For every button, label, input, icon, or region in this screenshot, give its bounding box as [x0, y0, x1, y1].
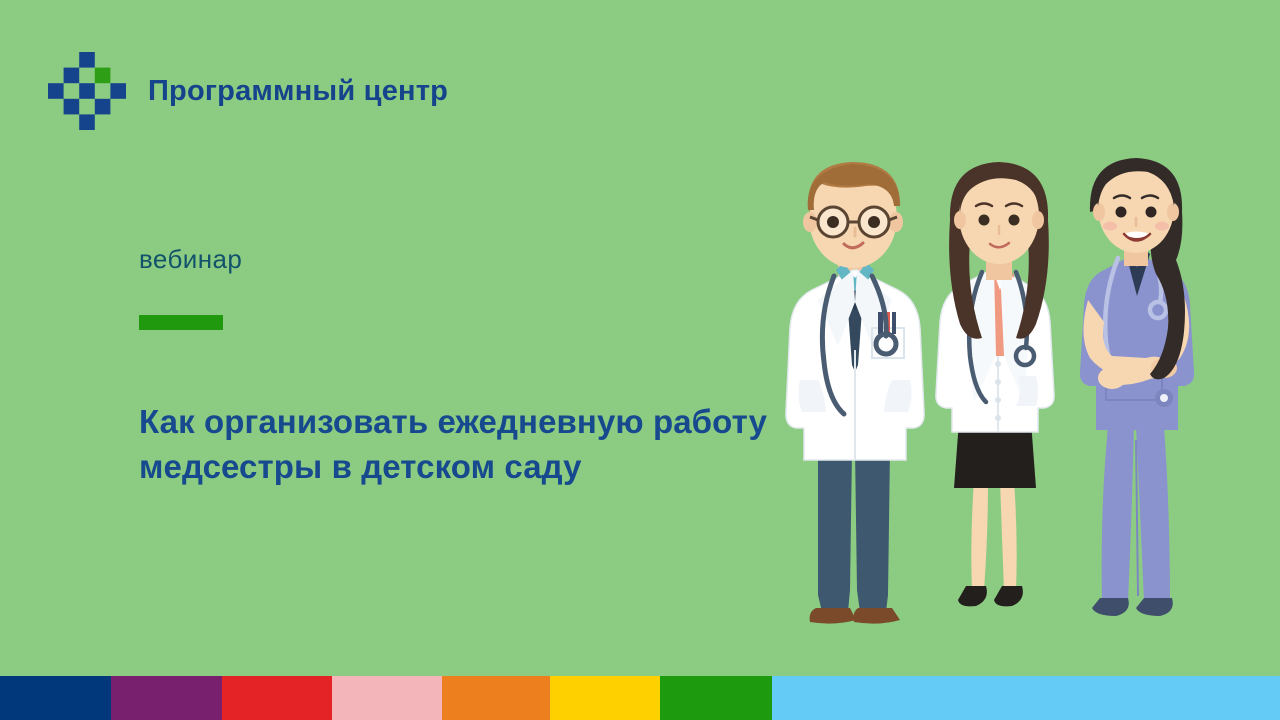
accent-rule: [139, 315, 223, 330]
webinar-title-slide: Программный центр вебинар Как организова…: [0, 0, 1280, 720]
checkerboard-cross-logo-icon: [48, 52, 126, 130]
stripe-segment-cyan: [772, 676, 1280, 720]
stripe-segment-purple: [111, 676, 222, 720]
stripe-segment-red: [222, 676, 332, 720]
pocket-pen: [878, 312, 883, 334]
stripe-segment-green: [660, 676, 772, 720]
stripe-segment-pink: [332, 676, 442, 720]
brand-name: Программный центр: [148, 75, 448, 108]
brand-color-stripe: [0, 676, 1280, 720]
male-doctor-figure: [786, 162, 924, 624]
eyebrow-label: вебинар: [139, 244, 242, 275]
three-medical-staff-illustration: [760, 150, 1280, 650]
female-doctor-figure: [936, 162, 1054, 606]
page-title: Как организовать ежедневную работу медсе…: [139, 399, 779, 489]
brand-lockup: Программный центр: [48, 52, 448, 130]
logo-green-square: [95, 68, 111, 84]
female-nurse-figure: [1080, 158, 1194, 616]
stripe-segment-orange: [442, 676, 550, 720]
stripe-segment-navy: [0, 676, 111, 720]
stripe-segment-yellow: [550, 676, 660, 720]
